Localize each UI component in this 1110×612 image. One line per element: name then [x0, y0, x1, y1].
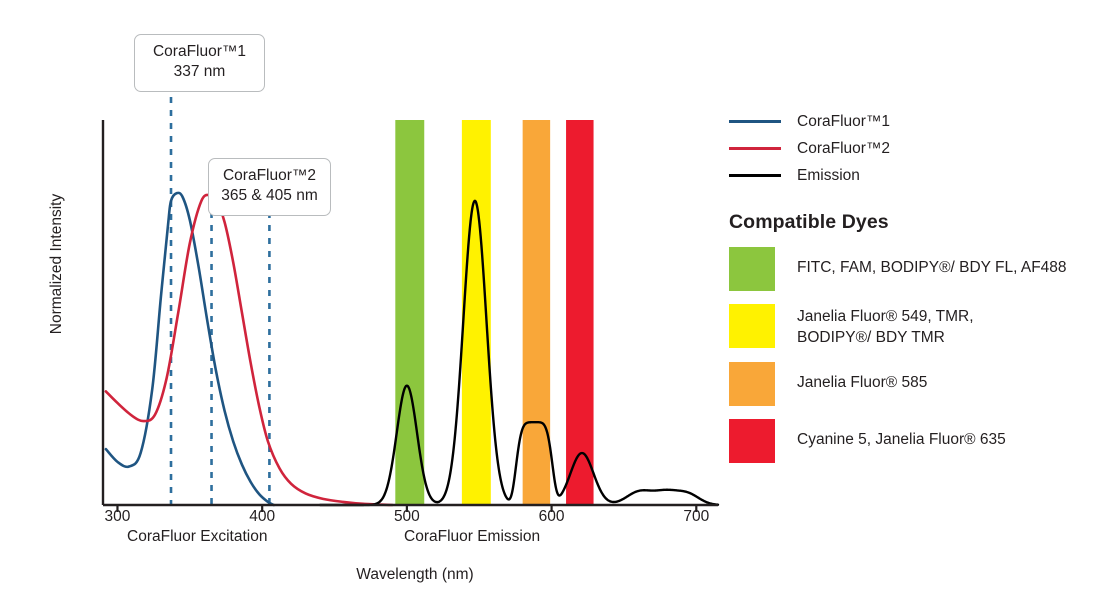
axis-region-label-2: CoraFluor Emission [404, 528, 540, 546]
callout-corafluor2-line1: CoraFluor™2 [223, 167, 316, 184]
x-tick-label-300: 300 [87, 508, 147, 526]
legend-row-3: Emission [729, 162, 1101, 189]
legend-row-1: CoraFluor™1 [729, 108, 1101, 135]
x-tick-label-700: 700 [666, 508, 726, 526]
dye-color-swatch [729, 247, 775, 291]
legend-line-swatch [729, 120, 781, 123]
curve-emission [320, 201, 718, 505]
dye-color-swatch [729, 419, 775, 463]
dye-row-2: Janelia Fluor® 549, TMR, BODIPY®/ BDY TM… [729, 304, 1101, 349]
series-legend: CoraFluor™1CoraFluor™2Emission [729, 108, 1101, 189]
x-tick-label-400: 400 [232, 508, 292, 526]
legend-row-2: CoraFluor™2 [729, 135, 1101, 162]
legend-panel: CoraFluor™1CoraFluor™2Emission Compatibl… [729, 108, 1101, 463]
dye-label: FITC, FAM, BODIPY®/ BDY FL, AF488 [797, 247, 1067, 279]
dye-row-4: Cyanine 5, Janelia Fluor® 635 [729, 419, 1101, 463]
legend-label: CoraFluor™2 [797, 140, 890, 158]
compatible-dyes-list: FITC, FAM, BODIPY®/ BDY FL, AF488Janelia… [729, 247, 1101, 463]
compatible-dyes-heading: Compatible Dyes [729, 211, 1101, 234]
x-tick-label-600: 600 [522, 508, 582, 526]
dye-row-1: FITC, FAM, BODIPY®/ BDY FL, AF488 [729, 247, 1101, 291]
emission-band-4 [566, 120, 593, 505]
x-tick-label-500: 500 [377, 508, 437, 526]
legend-label: Emission [797, 167, 860, 185]
dye-row-3: Janelia Fluor® 585 [729, 362, 1101, 406]
legend-label: CoraFluor™1 [797, 113, 890, 131]
callout-corafluor1: CoraFluor™1 337 nm [134, 34, 265, 92]
dye-label: Janelia Fluor® 585 [797, 362, 927, 394]
axis-region-label-1: CoraFluor Excitation [127, 528, 267, 546]
dye-label: Janelia Fluor® 549, TMR, BODIPY®/ BDY TM… [797, 304, 974, 349]
legend-line-swatch [729, 147, 781, 150]
callout-corafluor1-line1: CoraFluor™1 [153, 43, 246, 60]
callout-corafluor2-line2: 365 & 405 nm [219, 186, 320, 206]
dye-color-swatch [729, 304, 775, 348]
spectra-figure: CoraFluor™1 337 nm CoraFluor™2 365 & 405… [0, 0, 1110, 612]
legend-line-swatch [729, 174, 781, 177]
x-axis-title: Wavelength (nm) [0, 566, 830, 584]
dye-color-swatch [729, 362, 775, 406]
emission-band-3 [523, 120, 550, 505]
y-axis-title: Normalized Intensity [48, 184, 66, 344]
callout-corafluor2: CoraFluor™2 365 & 405 nm [208, 158, 331, 216]
callout-corafluor1-line2: 337 nm [145, 62, 254, 82]
curve-corafluor2 [106, 195, 393, 505]
dye-label: Cyanine 5, Janelia Fluor® 635 [797, 419, 1006, 451]
